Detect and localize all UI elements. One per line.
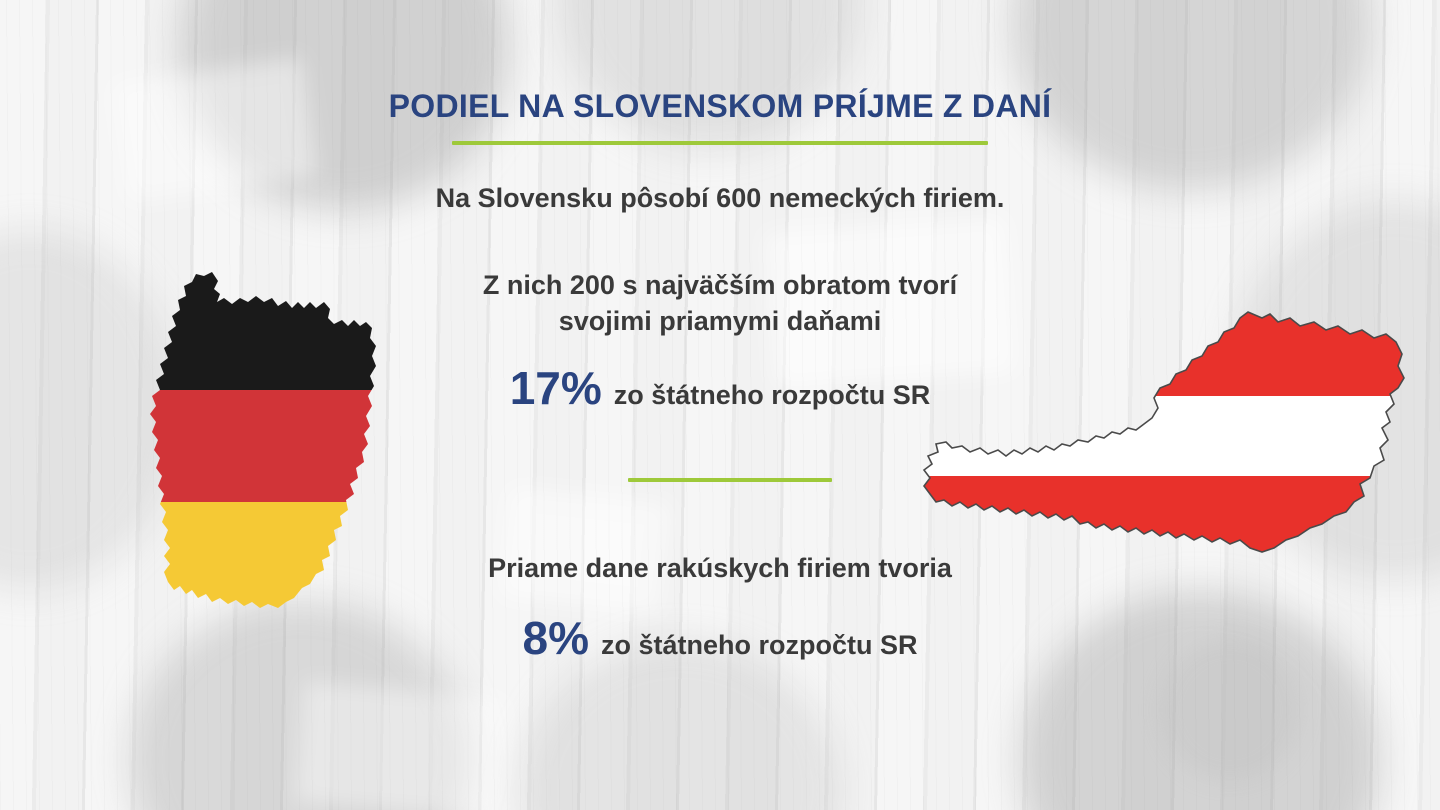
divider-middle <box>628 478 832 482</box>
slide-canvas: PODIEL NA SLOVENSKOM PRÍJME Z DANÍ Na Sl… <box>0 0 1440 810</box>
austria-percent-label: zo štátneho rozpočtu SR <box>601 632 918 659</box>
germany-percent-value: 17% <box>510 365 602 411</box>
austria-map <box>918 308 1408 560</box>
austria-line-1: Priame dane rakúskych firiem tvoria <box>0 553 1440 584</box>
austria-percent-value: 8% <box>523 615 589 661</box>
lead-text: Na Slovensku pôsobí 600 nemeckých firiem… <box>0 183 1440 214</box>
page-title: PODIEL NA SLOVENSKOM PRÍJME Z DANÍ <box>0 88 1440 125</box>
divider-top <box>452 141 988 145</box>
germany-line-2: svojimi priamymi daňami <box>0 306 1440 337</box>
germany-stat-row: 17% zo štátneho rozpočtu SR <box>0 365 1440 411</box>
austria-stat-row: 8% zo štátneho rozpočtu SR <box>0 615 1440 661</box>
germany-percent-label: zo štátneho rozpočtu SR <box>614 382 931 409</box>
austria-flag-band-red-bottom <box>918 476 1408 560</box>
germany-line-1: Z nich 200 s najväčším obratom tvorí <box>0 270 1440 301</box>
